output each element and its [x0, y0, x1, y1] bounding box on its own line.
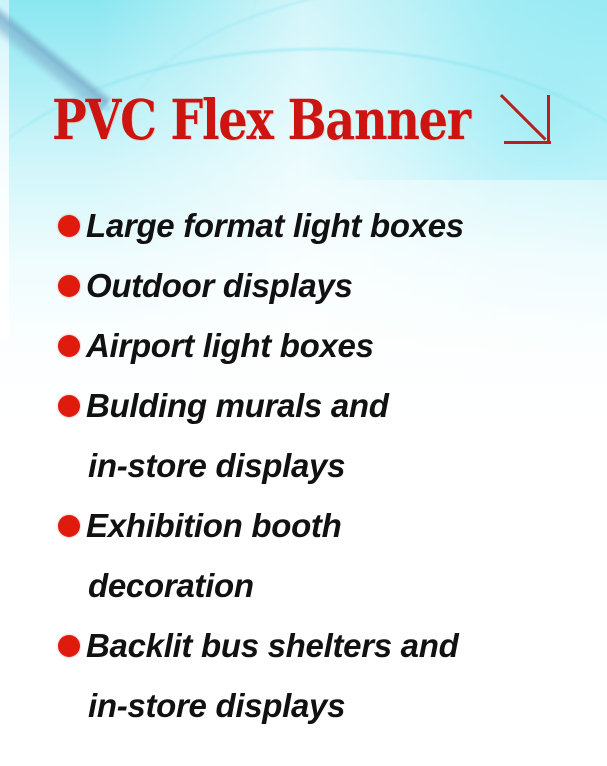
- bullet-dot-icon: [58, 635, 80, 657]
- list-item-label: Bulding murals and: [86, 387, 389, 425]
- list-item-label: decoration: [88, 567, 254, 605]
- arrow-down-right-icon: [501, 95, 555, 145]
- list-item: Airport light boxes: [0, 316, 607, 376]
- bullet-dot-icon: [58, 515, 80, 537]
- list-item-label: Large format light boxes: [86, 207, 464, 245]
- list-item: decoration: [0, 556, 607, 616]
- list-item: Outdoor displays: [0, 256, 607, 316]
- slide-canvas: PVC Flex Banner Large format light boxes…: [0, 0, 607, 766]
- list-item-label: in-store displays: [88, 687, 345, 725]
- list-item-label: Exhibition booth: [86, 507, 341, 545]
- bullet-dot-icon: [58, 395, 80, 417]
- list-item: Bulding murals and: [0, 376, 607, 436]
- list-item-label: Airport light boxes: [86, 327, 374, 365]
- list-item-label: Backlit bus shelters and: [86, 627, 458, 665]
- bullet-dot-icon: [58, 335, 80, 357]
- title-row: PVC Flex Banner: [52, 90, 555, 150]
- feature-bullet-list: Large format light boxesOutdoor displays…: [0, 196, 607, 736]
- list-item-label: Outdoor displays: [86, 267, 353, 305]
- bullet-dot-icon: [58, 215, 80, 237]
- page-title: PVC Flex Banner: [52, 90, 470, 150]
- list-item: Exhibition booth: [0, 496, 607, 556]
- list-item: in-store displays: [0, 436, 607, 496]
- list-item-label: in-store displays: [88, 447, 345, 485]
- bullet-dot-icon: [58, 275, 80, 297]
- arrow-head-horizontal: [504, 141, 551, 144]
- list-item: Large format light boxes: [0, 196, 607, 256]
- list-item: in-store displays: [0, 676, 607, 736]
- list-item: Backlit bus shelters and: [0, 616, 607, 676]
- arrow-shaft: [500, 94, 547, 141]
- arrow-head-vertical: [547, 95, 550, 142]
